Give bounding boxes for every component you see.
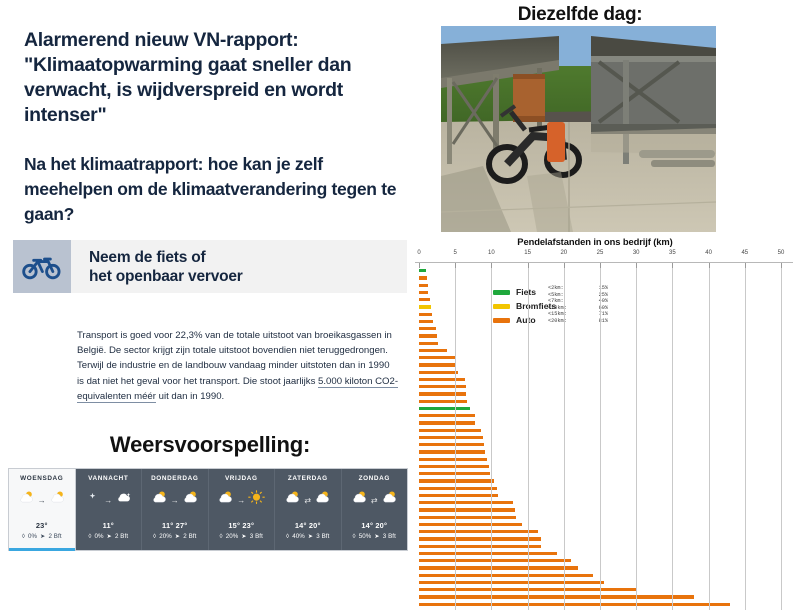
- chart-bar: [419, 443, 484, 446]
- chart-bar: [419, 378, 465, 381]
- weather-meta: ◊20%➤2 Bft: [153, 533, 196, 540]
- weather-card-zaterdag[interactable]: ZATERDAG⇄14° 20°◊40%➤3 Bft: [275, 469, 342, 550]
- weather-icon-cloud-sun: [217, 490, 234, 510]
- weather-temperature: 11°: [103, 521, 114, 530]
- weather-meta: ◊20%➤3 Bft: [220, 533, 263, 540]
- rain-drop-icon: ◊: [220, 533, 223, 540]
- article-body-part2: uit dan in 1990.: [156, 391, 224, 402]
- weather-icon-cloud-night: [115, 490, 132, 510]
- x-axis-tick-labels: 05101520253035404550: [415, 250, 793, 262]
- chart-bar: [419, 342, 438, 345]
- weather-icon-cloud-sun: [351, 490, 368, 510]
- gridline: [600, 268, 601, 610]
- weather-icons: ⇄: [351, 485, 398, 515]
- x-tick-35: 35: [669, 250, 676, 256]
- gridline: [455, 268, 456, 610]
- weather-icons: →: [151, 485, 199, 515]
- infographic-canvas: Alarmerend nieuw VN-rapport: "Klimaatopw…: [0, 0, 800, 613]
- weather-icons: →: [217, 485, 265, 515]
- chart-bar: [419, 414, 475, 417]
- chart-bar: [419, 363, 456, 366]
- weather-transition-arrow: →: [104, 496, 112, 505]
- left-column: Alarmerend nieuw VN-rapport: "Klimaatopw…: [0, 0, 420, 613]
- weather-card-vrijdag[interactable]: VRIJDAG→15° 23°◊20%➤3 Bft: [209, 469, 276, 550]
- chart-bar: [419, 284, 428, 287]
- weather-day-label: ZATERDAG: [288, 475, 328, 482]
- chart-annotation-table: <2km:15%<5km:25%<7km:40%<10km:60%<15km:7…: [548, 285, 608, 325]
- chart-bar: [419, 545, 541, 548]
- annotation-row: <7km:40%: [548, 298, 608, 305]
- gridline: [636, 268, 637, 610]
- weather-icon-star: [84, 490, 101, 510]
- chart-bar: [419, 407, 470, 410]
- weather-icon-cloud-sun: [151, 490, 168, 510]
- weather-precipitation: 20%: [226, 533, 239, 540]
- bike-banner-text: Neem de fiets of het openbaar vervoer: [71, 240, 407, 293]
- weather-card-zondag[interactable]: ZONDAG⇄14° 20°◊50%➤3 Bft: [342, 469, 408, 550]
- gridline: [709, 268, 710, 610]
- weather-card-donderdag[interactable]: DONDERDAG→11° 27°◊20%➤2 Bft: [142, 469, 209, 550]
- chart-bar: [419, 298, 430, 301]
- chart-bar: [419, 523, 522, 526]
- weather-wind: 2 Bft: [183, 533, 196, 540]
- weather-icon-cloud-sun: [182, 490, 199, 510]
- weather-icon-cloud-sun: [284, 490, 301, 510]
- weather-icons: →: [84, 485, 132, 515]
- weather-day-label: WOENSDAG: [20, 475, 63, 482]
- wind-arrow-icon: ➤: [308, 533, 313, 540]
- wind-arrow-icon: ➤: [107, 533, 112, 540]
- annotation-row: <10km:60%: [548, 305, 608, 312]
- chart-bar: [419, 327, 436, 330]
- gridline: [745, 268, 746, 610]
- rain-drop-icon: ◊: [88, 533, 91, 540]
- bike-banner-line1: Neem de fiets of: [89, 248, 243, 267]
- weather-temperature: 11° 27°: [162, 521, 187, 530]
- chart-bar: [419, 581, 604, 584]
- chart-bar: [419, 400, 467, 403]
- chart-bar: [419, 566, 578, 569]
- chart-bar: [419, 421, 475, 424]
- weather-precipitation: 0%: [94, 533, 103, 540]
- chart-bar: [419, 305, 431, 308]
- chart-bar: [419, 385, 466, 388]
- weather-icons: →: [18, 485, 66, 515]
- chart-bar: [419, 501, 513, 504]
- weather-transition-arrow: →: [38, 496, 46, 505]
- x-tick-45: 45: [741, 250, 748, 256]
- weather-wind: 3 Bft: [250, 533, 263, 540]
- chart-plot-area: FietsBromfietsAuto <2km:15%<5km:25%<7km:…: [415, 262, 793, 610]
- weather-precipitation: 40%: [292, 533, 305, 540]
- chart-bar: [419, 603, 730, 606]
- chart-bar: [419, 371, 458, 374]
- legend-swatch: [493, 290, 510, 295]
- page-title: Alarmerend nieuw VN-rapport: "Klimaatopw…: [24, 28, 396, 128]
- weather-forecast-strip: WOENSDAG→23°◊0%➤2 BftVANNACHT→11°◊0%➤2 B…: [8, 468, 408, 551]
- wind-arrow-icon: ➤: [241, 533, 246, 540]
- weather-icon-cloud-sun: [381, 490, 398, 510]
- photo-title: Diezelfde dag:: [430, 4, 730, 26]
- weather-title: Weersvoorspelling:: [0, 432, 420, 458]
- weather-transition-arrow: ⇄: [304, 496, 311, 505]
- chart-bar: [419, 494, 498, 497]
- weather-temperature: 15° 23°: [228, 521, 254, 530]
- chart-bar: [419, 574, 593, 577]
- chart-bar: [419, 450, 485, 453]
- x-tick-30: 30: [633, 250, 640, 256]
- annotation-label: <5km:: [548, 292, 564, 299]
- annotation-row: <20km:81%: [548, 318, 608, 325]
- gridline: [564, 268, 565, 610]
- section-subtitle: Na het klimaatrapport: hoe kan je zelf m…: [24, 152, 404, 227]
- chart-bar: [419, 276, 427, 279]
- x-tick-20: 20: [560, 250, 567, 256]
- weather-day-label: ZONDAG: [359, 475, 390, 482]
- chart-bar: [419, 479, 494, 482]
- chart-bar: [419, 349, 447, 352]
- weather-icons: ⇄: [284, 485, 331, 515]
- annotation-row: <5km:25%: [548, 292, 608, 299]
- weather-temperature: 14° 20°: [295, 521, 321, 530]
- weather-transition-arrow: →: [171, 496, 179, 505]
- weather-precipitation: 20%: [159, 533, 172, 540]
- chart-bar: [419, 530, 538, 533]
- weather-day-label: VRIJDAG: [225, 475, 258, 482]
- legend-swatch: [493, 318, 510, 323]
- legend-label: Auto: [516, 315, 536, 325]
- weather-wind: 2 Bft: [48, 533, 61, 540]
- weather-meta: ◊40%➤3 Bft: [286, 533, 329, 540]
- chart-bar: [419, 537, 541, 540]
- chart-bar: [419, 269, 426, 272]
- bike-shelter-photo: [441, 26, 716, 232]
- annotation-label: <2km:: [548, 285, 564, 292]
- chart-bar: [419, 465, 489, 468]
- chart-bar: [419, 313, 432, 316]
- x-tick-5: 5: [454, 250, 457, 256]
- rain-drop-icon: ◊: [286, 533, 289, 540]
- commute-distance-chart: 05101520253035404550 FietsBromfietsAuto …: [415, 250, 793, 610]
- x-tick-15: 15: [524, 250, 531, 256]
- gridline: [528, 268, 529, 610]
- chart-bar: [419, 516, 516, 519]
- weather-temperature: 14° 20°: [361, 521, 387, 530]
- weather-transition-arrow: →: [237, 496, 245, 505]
- chart-bar: [419, 552, 557, 555]
- bike-banner[interactable]: Neem de fiets of het openbaar vervoer: [13, 240, 407, 293]
- x-tick-0: 0: [417, 250, 420, 256]
- rain-drop-icon: ◊: [153, 533, 156, 540]
- weather-card-woensdag[interactable]: WOENSDAG→23°◊0%➤2 Bft: [9, 469, 76, 550]
- weather-wind: 2 Bft: [115, 533, 128, 540]
- chart-bar: [419, 429, 481, 432]
- gridline: [491, 268, 492, 610]
- weather-precipitation: 0%: [28, 533, 37, 540]
- weather-day-label: DONDERDAG: [151, 475, 198, 482]
- weather-wind: 3 Bft: [383, 533, 396, 540]
- chart-bar: [419, 595, 694, 598]
- weather-precipitation: 50%: [359, 533, 372, 540]
- chart-bar: [419, 320, 433, 323]
- chart-bar: [419, 559, 571, 562]
- weather-day-label: VANNACHT: [88, 475, 128, 482]
- gridline: [672, 268, 673, 610]
- annotation-row: <2km:15%: [548, 285, 608, 292]
- wind-arrow-icon: ➤: [175, 533, 180, 540]
- wind-arrow-icon: ➤: [40, 533, 45, 540]
- rain-drop-icon: ◊: [22, 533, 25, 540]
- weather-meta: ◊0%➤2 Bft: [88, 533, 128, 540]
- chart-bar: [419, 508, 515, 511]
- chart-title: Pendelafstanden in ons bedrijf (km): [420, 236, 770, 247]
- gridline: [781, 268, 782, 610]
- chart-bar: [419, 334, 437, 337]
- bike-banner-line2: het openbaar vervoer: [89, 267, 243, 286]
- x-tick-50: 50: [778, 250, 785, 256]
- chart-bar: [419, 356, 455, 359]
- weather-temperature: 23°: [36, 521, 48, 530]
- x-tick-25: 25: [597, 250, 604, 256]
- article-body: Transport is goed voor 22,3% van de tota…: [77, 328, 399, 405]
- weather-meta: ◊50%➤3 Bft: [353, 533, 396, 540]
- axis-tick-mark: [419, 263, 420, 268]
- chart-bar: [419, 487, 497, 490]
- weather-transition-arrow: ⇄: [371, 496, 378, 505]
- weather-icon-sun: [248, 490, 265, 510]
- weather-icon-cloud-sun: [314, 490, 331, 510]
- wind-arrow-icon: ➤: [374, 533, 379, 540]
- x-tick-10: 10: [488, 250, 495, 256]
- weather-icon-cloud-sun: [49, 490, 66, 510]
- chart-bar: [419, 291, 428, 294]
- bicycle-icon: [13, 240, 71, 293]
- legend-swatch: [493, 304, 510, 309]
- annotation-row: <15km:71%: [548, 311, 608, 318]
- weather-icon-cloud-sun: [18, 490, 35, 510]
- chart-bar: [419, 392, 466, 395]
- rain-drop-icon: ◊: [353, 533, 356, 540]
- weather-wind: 3 Bft: [316, 533, 329, 540]
- x-tick-40: 40: [705, 250, 712, 256]
- legend-label: Fiets: [516, 287, 536, 297]
- weather-card-vannacht[interactable]: VANNACHT→11°◊0%➤2 Bft: [76, 469, 143, 550]
- weather-meta: ◊0%➤2 Bft: [22, 533, 62, 540]
- annotation-label: <7km:: [548, 298, 564, 305]
- chart-bar: [419, 458, 487, 461]
- chart-bar: [419, 436, 483, 439]
